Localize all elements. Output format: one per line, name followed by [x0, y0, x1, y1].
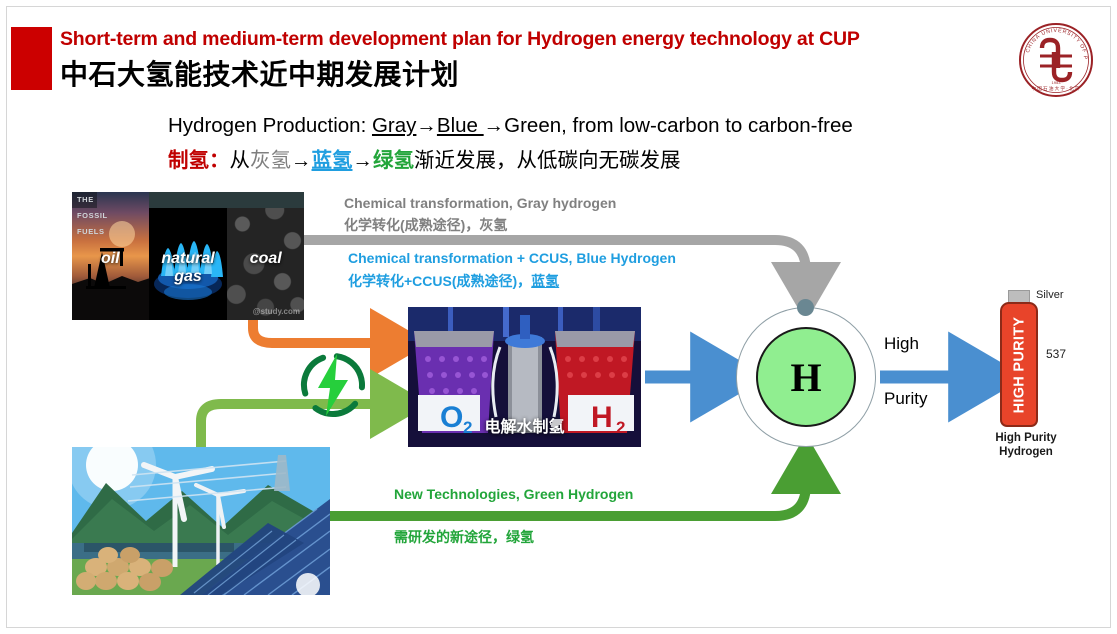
page-title-english: Short-term and medium-term development p… — [60, 28, 1010, 51]
subtitle-zh-arrow1: → — [291, 149, 312, 172]
label-blue-path-english: Chemical transformation + CCUS, Blue Hyd… — [348, 250, 676, 266]
fossil-label-oil: oil — [72, 250, 149, 268]
renewable-energy-photo — [72, 447, 330, 595]
hydrogen-atom-node: H — [736, 307, 876, 447]
label-blue-path-chinese: 化学转化+CCUS(成熟途径)，蓝氢 — [348, 271, 559, 291]
water-electrolysis-photo: O 2 H 2 电解水制氢 — [408, 307, 641, 447]
natural-gas-panel: natural gas — [149, 192, 228, 320]
subtitle-zh-label: 制氢： — [168, 149, 230, 172]
title-accent-block — [11, 27, 52, 90]
svg-text:中国石油大学·北京: 中国石油大学·北京 — [1031, 85, 1080, 92]
subtitle-en-lead: Hydrogen Production: — [168, 114, 372, 137]
coal-panel: coal @study.com — [227, 192, 304, 320]
subtitle-en-gray: Gray — [372, 114, 416, 137]
label-green-path-english: New Technologies, Green Hydrogen — [394, 486, 633, 502]
hydrogen-letter: H — [736, 307, 876, 447]
fossil-overlay-title: THE FOSSIL FUELS — [72, 192, 97, 208]
fossil-label-coal: coal — [227, 250, 304, 268]
lightning-bolt-icon — [296, 348, 370, 422]
subtitle-zh-gray: 灰氢 — [250, 149, 291, 172]
fossil-fuels-photo: THE FOSSIL FUELS oil — [72, 192, 304, 320]
cylinder-number: 537 — [1046, 347, 1066, 361]
subtitle-chinese: 制氢：从灰氢→蓝氢→绿氢渐近发展，从低碳向无碳发展 — [168, 143, 681, 173]
subtitle-en-arrow1: → — [416, 114, 437, 137]
label-blue-zh-a: 化学转化+CCUS(成熟途径)， — [348, 273, 531, 289]
subtitle-en-blue: Blue — [437, 114, 484, 137]
label-high: High — [884, 334, 919, 354]
fossil-watermark: @study.com — [253, 307, 300, 316]
label-gray-path-chinese: 化学转化(成熟途径)，灰氢 — [344, 215, 507, 235]
subtitle-en-tail: , from low-carbon to carbon-free — [561, 114, 853, 137]
fossil-label-natural-gas: natural gas — [149, 250, 228, 286]
subtitle-english: Hydrogen Production: Gray→Blue →Green, f… — [168, 114, 853, 138]
cylinder-caption-line1: High Purity — [986, 432, 1066, 444]
subtitle-zh-tail: 渐近发展，从低碳向无碳发展 — [414, 149, 681, 172]
cylinder-label-text: HIGH PURITY — [1011, 316, 1027, 413]
page-title-chinese: 中石大氢能技术近中期发展计划 — [60, 53, 459, 93]
subtitle-zh-from: 从 — [230, 149, 251, 172]
label-blue-zh-b: 蓝氢 — [531, 273, 559, 289]
subtitle-zh-arrow2: → — [353, 149, 374, 172]
fossil-header-band — [149, 192, 304, 208]
svg-text:1953: 1953 — [1052, 80, 1062, 85]
hydrogen-cylinder: HIGH PURITY Silver 537 High Purity Hydro… — [988, 290, 1098, 465]
slide-canvas: Short-term and medium-term development p… — [0, 0, 1117, 634]
label-purity: Purity — [884, 389, 927, 409]
subtitle-zh-green: 绿氢 — [373, 149, 414, 172]
china-university-of-petroleum-logo: CHINA UNIVERSITY OF PETROLEUM 中国石油大学·北京 … — [1012, 16, 1100, 104]
label-green-path-chinese: 需研发的新途径，绿氢 — [394, 527, 534, 547]
subtitle-zh-blue: 蓝氢 — [312, 149, 353, 172]
hydrogen-electron-dot — [797, 299, 814, 316]
cylinder-label: HIGH PURITY — [1000, 302, 1038, 427]
cylinder-silver-label: Silver — [1036, 289, 1064, 301]
subtitle-en-arrow2: → — [484, 114, 505, 137]
oil-panel: THE FOSSIL FUELS oil — [72, 192, 149, 320]
electrolysis-caption: 电解水制氢 — [408, 413, 641, 437]
cylinder-caption-line2: Hydrogen — [986, 446, 1066, 458]
label-gray-path-english: Chemical transformation, Gray hydrogen — [344, 195, 616, 211]
subtitle-en-green: Green — [504, 114, 561, 137]
